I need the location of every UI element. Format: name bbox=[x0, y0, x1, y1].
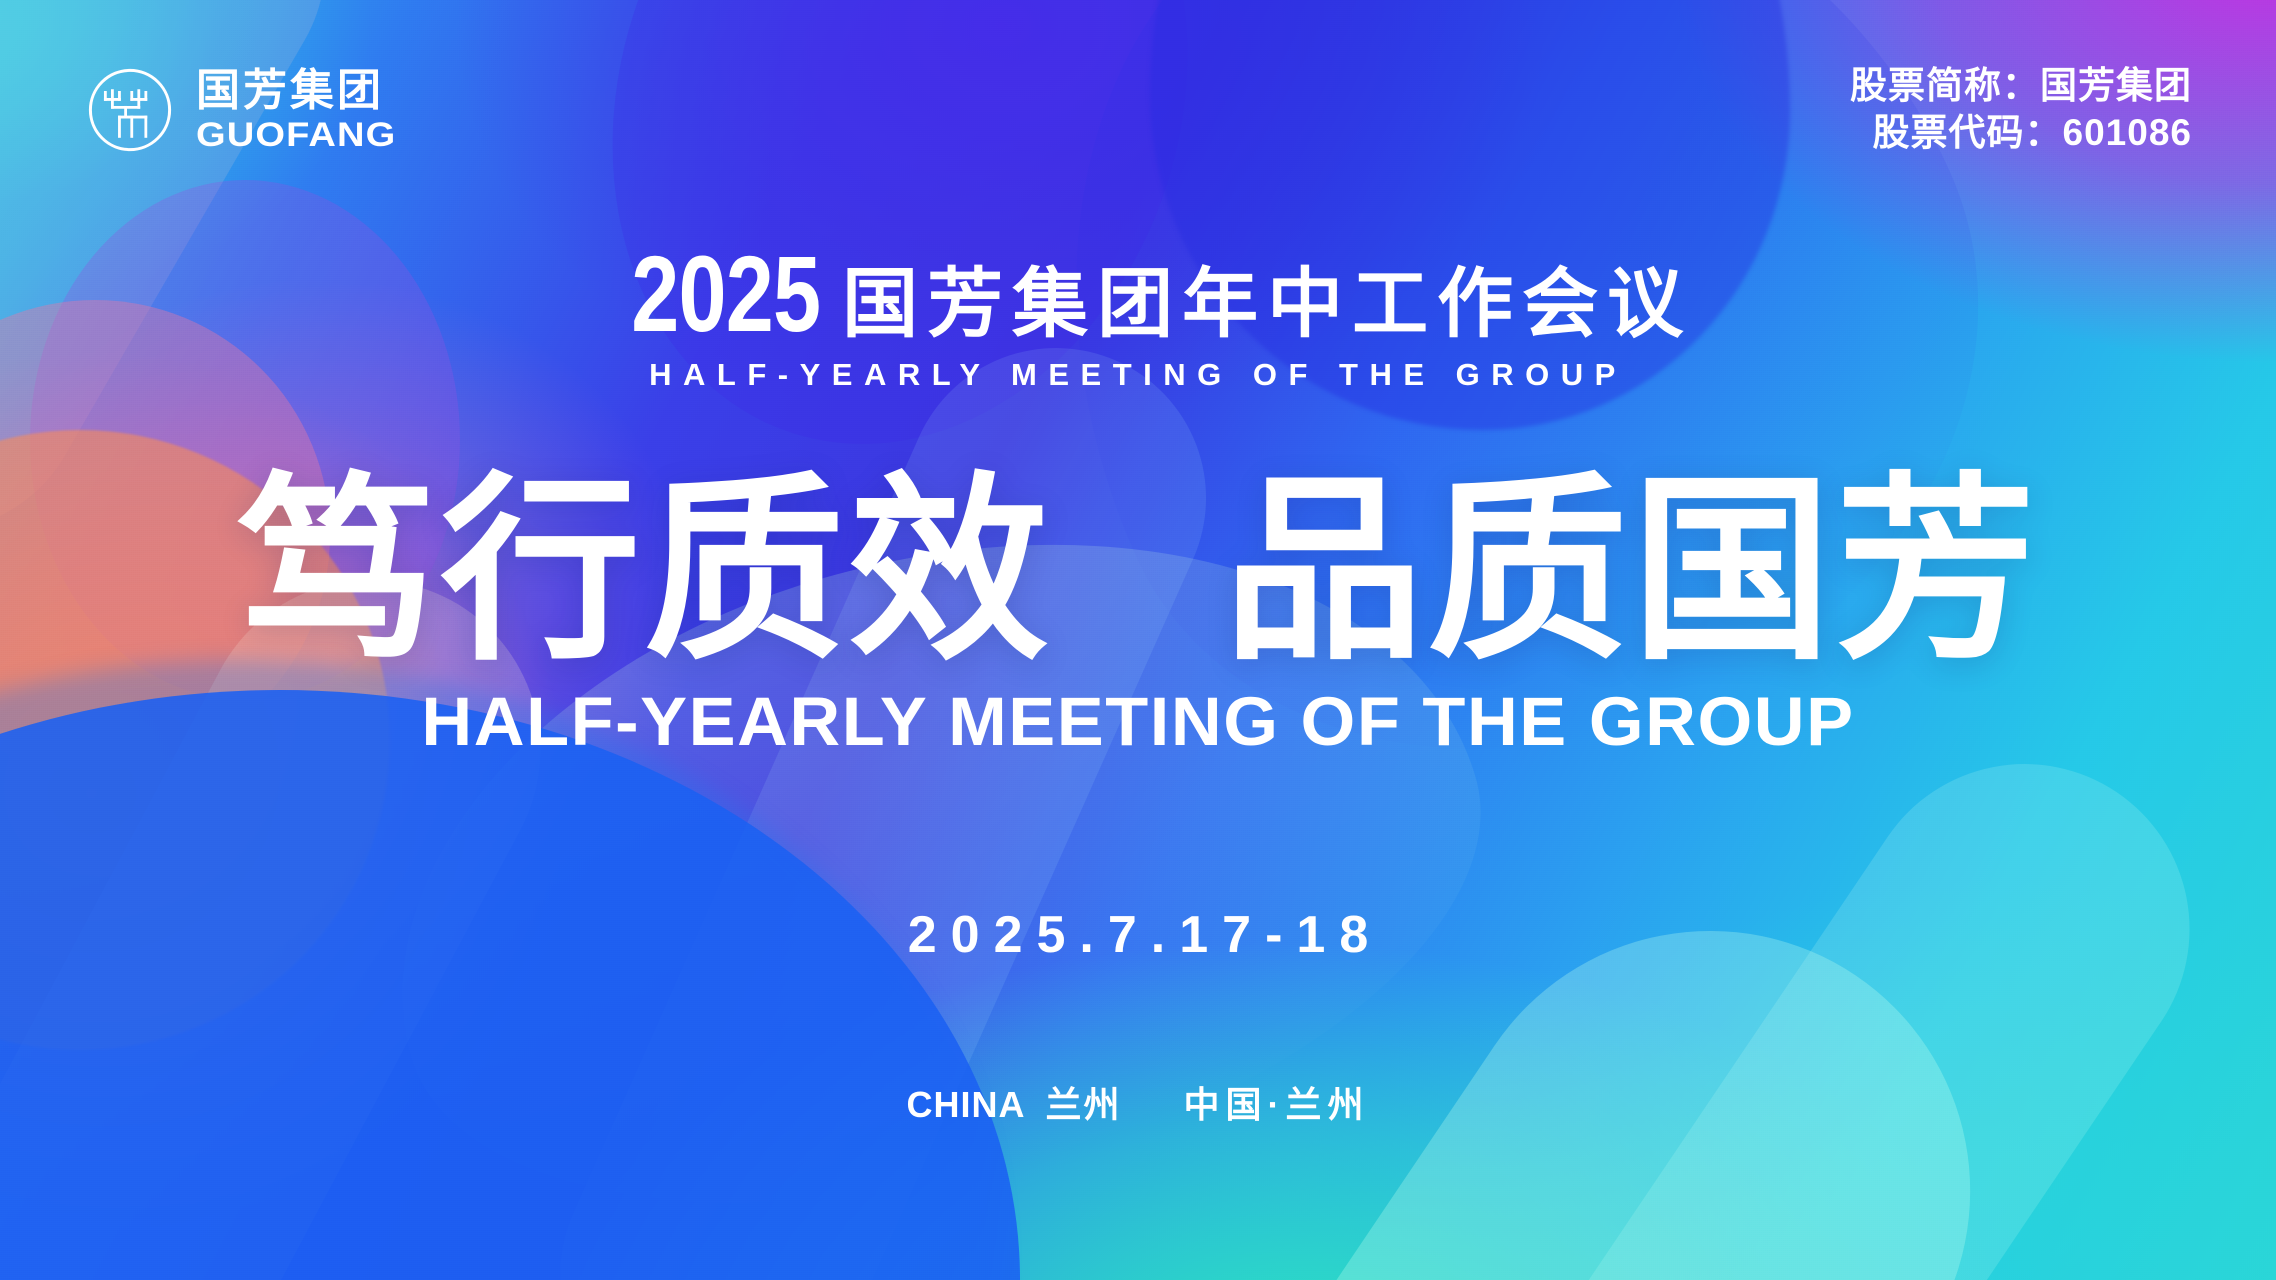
hero-slogan-block: 笃行质效 品质国芳 HALF-YEARLY MEETING OF THE GRO… bbox=[0, 472, 2276, 761]
location-full-cn: 中国·兰州 bbox=[1184, 1084, 1370, 1125]
location-country-en: CHINA bbox=[906, 1084, 1025, 1125]
location-city-cn: 兰州 bbox=[1045, 1084, 1121, 1125]
event-year: 2025 bbox=[631, 248, 820, 341]
brand-name-en: GUOFANG bbox=[196, 118, 407, 152]
event-title-block: 2025 国芳集团年中工作会议 HALF-YEARLY MEETING OF T… bbox=[0, 248, 2276, 393]
brand-logo: 国芳集团 GUOFANG bbox=[86, 66, 384, 154]
event-title-row: 2025 国芳集团年中工作会议 bbox=[0, 248, 2276, 341]
hero-slogan-en: HALF-YEARLY MEETING OF THE GROUP bbox=[0, 682, 2276, 761]
brand-wordmark: 国芳集团 GUOFANG bbox=[196, 69, 384, 152]
stock-name-line: 股票简称：国芳集团 bbox=[1850, 62, 2192, 109]
event-date: 2025.7.17-18 bbox=[0, 905, 2276, 965]
deer-emblem-icon bbox=[86, 66, 174, 154]
event-title-en: HALF-YEARLY MEETING OF THE GROUP bbox=[0, 357, 2276, 393]
event-title-cn: 国芳集团年中工作会议 bbox=[842, 269, 1692, 341]
brand-name-cn: 国芳集团 bbox=[196, 69, 384, 113]
hero-slogan-right: 品质国芳 bbox=[1224, 460, 2040, 683]
hero-slogan-cn: 笃行质效 品质国芳 bbox=[0, 472, 2276, 672]
stock-info: 股票简称：国芳集团 股票代码：601086 bbox=[1850, 62, 2192, 157]
stock-code-line: 股票代码：601086 bbox=[1850, 109, 2192, 156]
hero-slogan-left: 笃行质效 bbox=[236, 460, 1052, 683]
conference-poster: 国芳集团 GUOFANG 股票简称：国芳集团 股票代码：601086 2025 … bbox=[0, 0, 2276, 1280]
event-location: CHINA 兰州 中国·兰州 bbox=[0, 1076, 2276, 1128]
